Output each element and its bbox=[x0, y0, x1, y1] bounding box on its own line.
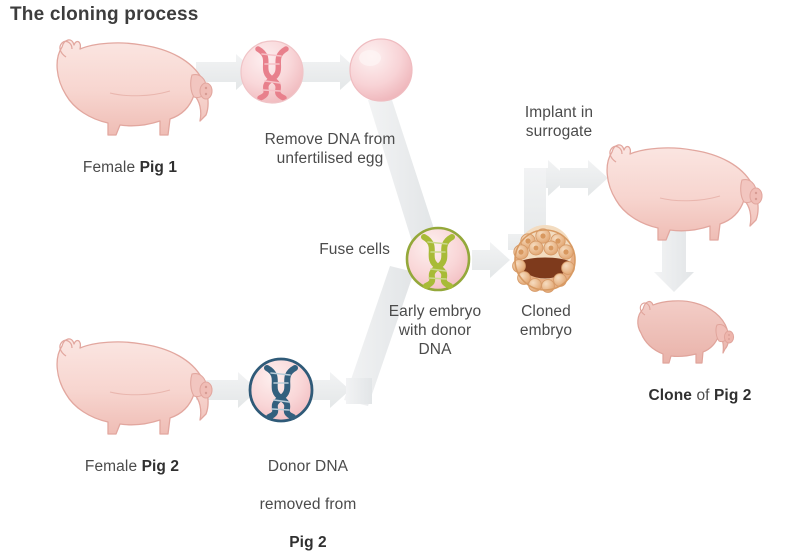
label-donor-line2: removed from bbox=[260, 496, 357, 513]
label-remove-dna-from-unfertilised-egg: Remove DNA from unfertilised egg bbox=[232, 130, 428, 168]
label-clone-of: of bbox=[692, 387, 714, 404]
label-cloned-embryo: Cloned embryo bbox=[488, 302, 604, 340]
empty-egg-cell-icon bbox=[350, 39, 412, 101]
label-pig2-name: Pig 2 bbox=[142, 458, 180, 475]
embryo-cell-with-donor-dna-icon bbox=[407, 228, 469, 290]
egg-cell-with-dna-icon bbox=[241, 41, 303, 103]
label-pig1-prefix: Female bbox=[83, 159, 140, 176]
arrow-fuse-to-cloned-embryo bbox=[472, 242, 510, 278]
label-donor-dna-removed-from-pig-2: Donor DNA removed from Pig 2 bbox=[218, 438, 398, 552]
label-female-pig-2: Female Pig 2 bbox=[42, 438, 222, 476]
label-donor-line1: Donor DNA bbox=[268, 458, 348, 475]
donor-dna-cell-icon bbox=[250, 359, 312, 421]
piglet-icon-clone bbox=[638, 301, 734, 363]
label-pig1-name: Pig 1 bbox=[140, 159, 178, 176]
page-title: The cloning process bbox=[10, 4, 199, 26]
diagram-illustration bbox=[0, 0, 800, 512]
label-implant-in-surrogate: Implant in surrogate bbox=[490, 103, 628, 141]
arrow-empty-egg-to-fuse bbox=[368, 100, 437, 245]
label-fuse-cells: Fuse cells bbox=[280, 240, 390, 259]
pig-icon-surrogate bbox=[607, 145, 762, 240]
pig-icon-female-pig-1 bbox=[57, 40, 212, 135]
pig-icon-female-pig-2 bbox=[57, 339, 212, 434]
diagram-canvas: The cloning process Female Pig 1 Remove … bbox=[0, 0, 800, 512]
label-clone-word: Clone bbox=[648, 387, 692, 404]
label-pig2-prefix: Female bbox=[85, 458, 142, 475]
label-donor-line3: Pig 2 bbox=[289, 534, 327, 551]
label-female-pig-1: Female Pig 1 bbox=[40, 139, 220, 177]
label-clone-of-pig-2: Clone of Pig 2 bbox=[610, 367, 790, 405]
label-clone-pig2: Pig 2 bbox=[714, 387, 752, 404]
